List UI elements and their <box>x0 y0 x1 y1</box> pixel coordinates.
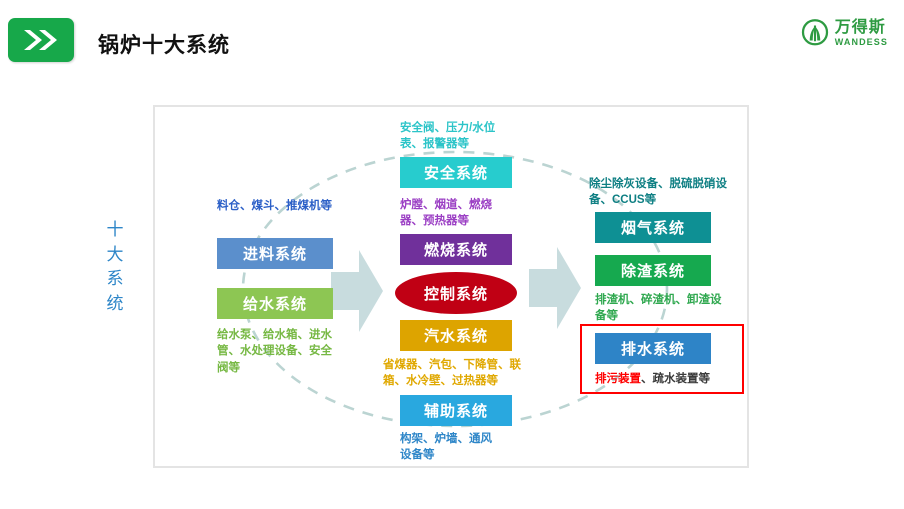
ellipse-control-system[interactable]: 控制系统 <box>395 272 517 314</box>
brand-logo: 万得斯 WANDESS <box>800 12 888 54</box>
box-steam-water-system[interactable]: 汽水系统 <box>400 320 512 351</box>
note-feedwater-system: 给水泵、给水箱、进水管、水处理设备、安全阀等 <box>217 327 337 376</box>
box-feed-system[interactable]: 进料系统 <box>217 238 333 269</box>
note-combustion-system: 炉膛、烟道、燃烧器、预热器等 <box>400 197 512 230</box>
slide-header: 锅炉十大系统 万得斯 WANDESS <box>0 0 904 80</box>
note-steam-water-system: 省煤器、汽包、下降管、联箱、水冷壁、过热器等 <box>383 357 541 390</box>
diagram-frame: 料仓、煤斗、推煤机等 进料系统 给水系统 给水泵、给水箱、进水管、水处理设备、安… <box>153 105 749 468</box>
slide-canvas: 锅炉十大系统 万得斯 WANDESS 十大系统 <box>0 0 904 509</box>
diagram-side-label: 十大系统 <box>102 218 128 317</box>
brand-name-en: WANDESS <box>835 38 888 47</box>
box-flue-gas-system[interactable]: 烟气系统 <box>595 212 711 243</box>
box-auxiliary-system[interactable]: 辅助系统 <box>400 395 512 426</box>
note-feed-system: 料仓、煤斗、推煤机等 <box>217 198 333 214</box>
box-feedwater-system[interactable]: 给水系统 <box>217 288 333 319</box>
page-title: 锅炉十大系统 <box>98 29 230 59</box>
brand-name-cn: 万得斯 <box>835 20 888 36</box>
note-auxiliary-system: 构架、炉墙、通风设备等 <box>400 431 502 464</box>
flow-arrow-1 <box>331 250 383 332</box>
flow-arrow-2 <box>529 247 581 329</box>
note-safety-system: 安全阀、压力/水位表、报警器等 <box>400 120 516 153</box>
highlight-rectangle-drainage <box>580 324 744 394</box>
double-chevron-right-icon <box>8 18 74 62</box>
box-slag-removal-system[interactable]: 除渣系统 <box>595 255 711 286</box>
note-slag-removal-system: 排渣机、碎渣机、卸渣设备等 <box>595 292 723 325</box>
note-flue-gas-system: 除尘除灰设备、脱硫脱硝设备、CCUS等 <box>589 176 735 209</box>
wandess-plant-logo-icon <box>800 18 830 48</box>
box-combustion-system[interactable]: 燃烧系统 <box>400 234 512 265</box>
box-safety-system[interactable]: 安全系统 <box>400 157 512 188</box>
